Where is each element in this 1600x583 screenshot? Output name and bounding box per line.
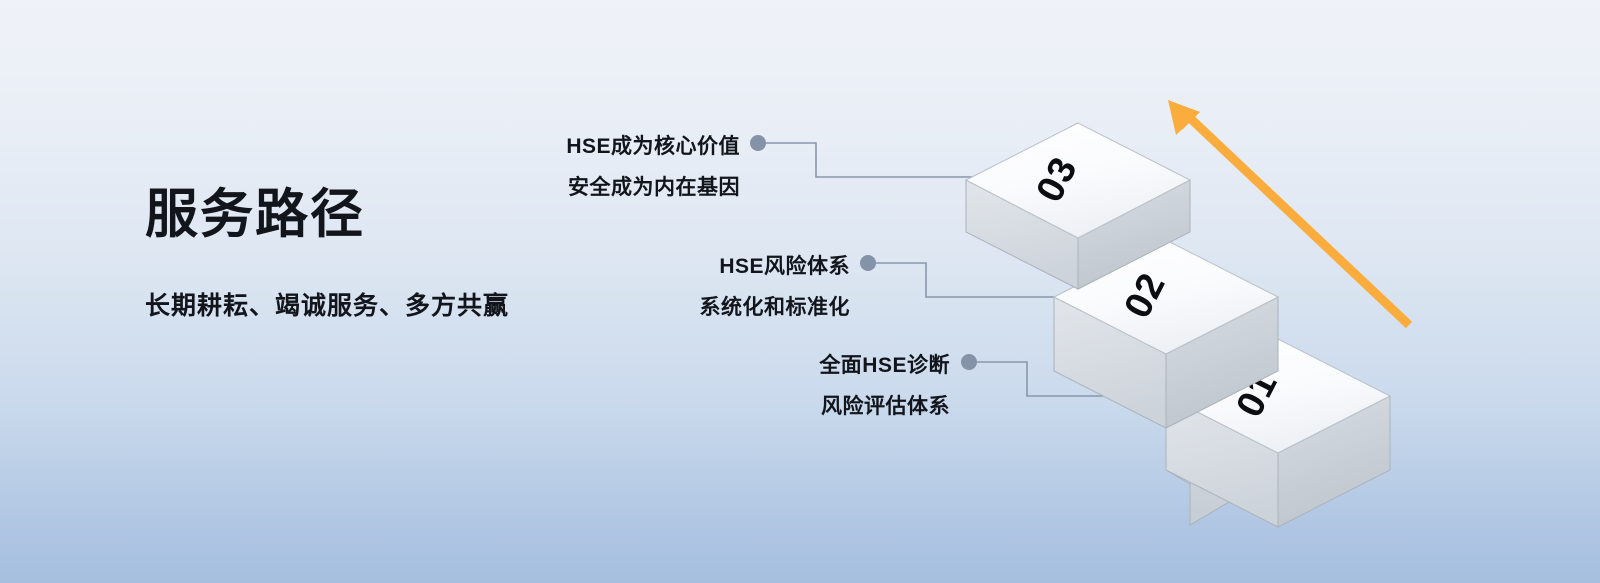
annotation-step-02-line-1: HSE风险体系 bbox=[410, 246, 850, 287]
annotation-step-03-line-2: 安全成为内在基因 bbox=[300, 167, 740, 208]
annotation-step-02-line-2: 系统化和标准化 bbox=[410, 287, 850, 328]
annotation-step-01-line-2: 风险评估体系 bbox=[510, 386, 950, 427]
connector-dot-step-01[interactable] bbox=[961, 354, 977, 370]
connector-dot-step-02[interactable] bbox=[860, 255, 876, 271]
connector-line-step-03 bbox=[766, 143, 1000, 177]
annotation-step-03[interactable]: HSE成为核心价值 安全成为内在基因 bbox=[300, 126, 740, 208]
annotation-step-03-line-1: HSE成为核心价值 bbox=[300, 126, 740, 167]
annotation-step-02[interactable]: HSE风险体系 系统化和标准化 bbox=[410, 246, 850, 328]
annotation-step-01[interactable]: 全面HSE诊断 风险评估体系 bbox=[510, 345, 950, 427]
connector-dot-step-03[interactable] bbox=[750, 135, 766, 151]
annotation-step-01-line-1: 全面HSE诊断 bbox=[510, 345, 950, 386]
slide-canvas: 01 02 03 服务路径 长期耕 bbox=[0, 0, 1600, 583]
